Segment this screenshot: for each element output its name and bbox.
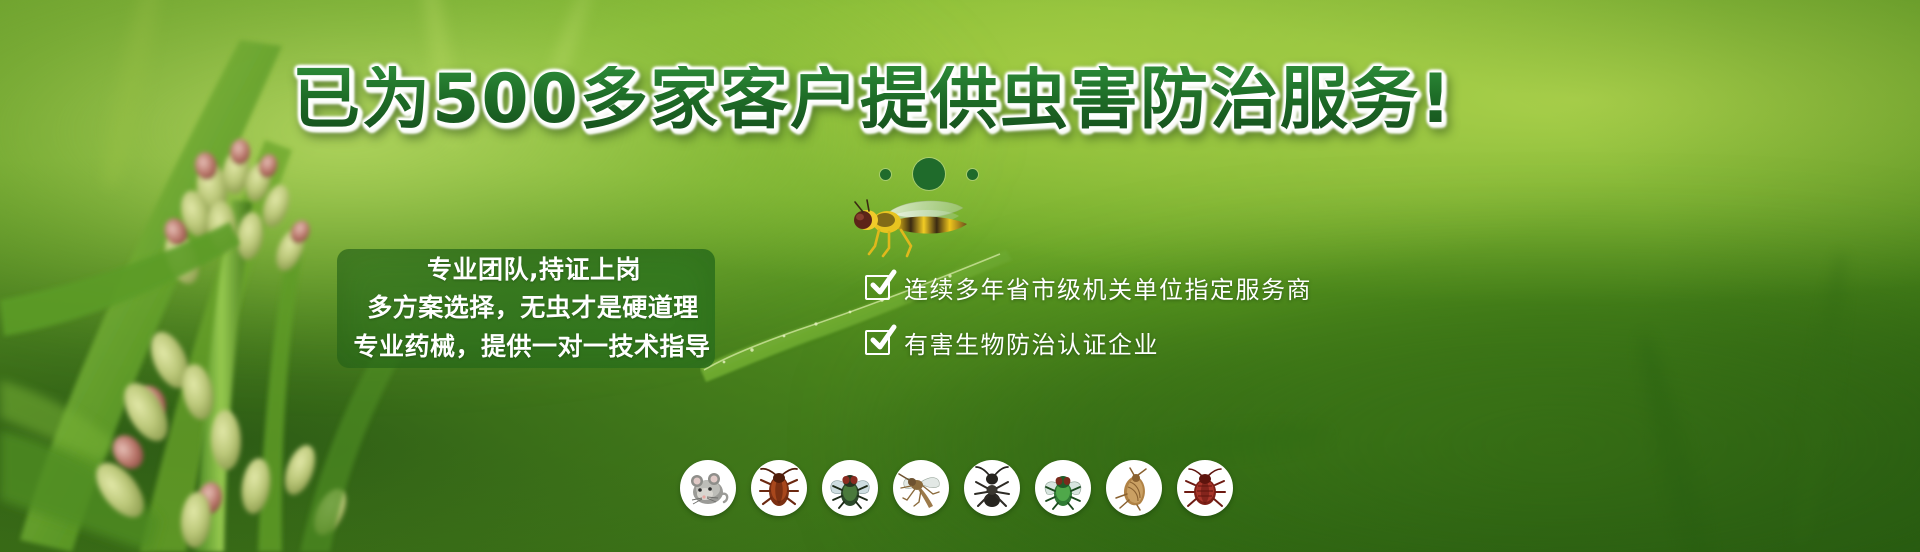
feature-list: 连续多年省市级机关单位指定服务商 有害生物防治认证企业	[865, 270, 1312, 360]
mosquito-icon[interactable]	[893, 460, 949, 516]
green-fly-icon[interactable]	[1035, 460, 1091, 516]
decorative-dots	[880, 158, 978, 190]
checkbox-checked-icon	[865, 330, 890, 355]
flea-icon[interactable]	[1106, 460, 1162, 516]
checkbox-checked-icon	[865, 275, 890, 300]
hoverfly-image	[845, 196, 975, 266]
headline-container: 已为500多家客户提供虫害防治服务!	[0, 66, 1920, 134]
dot-large-center-icon	[913, 158, 945, 190]
promo-banner: 已为500多家客户提供虫害防治服务!	[0, 0, 1920, 552]
value-proposition-text: 专业团队,持证上岗 多方案选择，无虫才是硬道理 专业药械，提供一对一技术指导	[337, 249, 715, 368]
mouse-icon[interactable]	[680, 460, 736, 516]
bedbug-icon[interactable]	[1177, 460, 1233, 516]
panel-line-3: 专业药械，提供一对一技术指导	[341, 329, 723, 365]
fly-icon[interactable]	[822, 460, 878, 516]
headline-text: 已为500多家客户提供虫害防治服务!	[292, 66, 1453, 134]
dot-small-left-icon	[880, 169, 891, 180]
feature-item: 连续多年省市级机关单位指定服务商	[865, 270, 1312, 305]
feature-item: 有害生物防治认证企业	[865, 325, 1312, 360]
ant-icon[interactable]	[964, 460, 1020, 516]
feature-label: 有害生物防治认证企业	[904, 325, 1159, 360]
panel-line-1: 专业团队,持证上岗	[345, 252, 723, 288]
pest-icon-row	[680, 460, 1233, 516]
dot-small-right-icon	[967, 169, 978, 180]
feature-label: 连续多年省市级机关单位指定服务商	[904, 270, 1312, 305]
cockroach-icon[interactable]	[751, 460, 807, 516]
panel-line-2: 多方案选择，无虫才是硬道理	[343, 290, 723, 326]
